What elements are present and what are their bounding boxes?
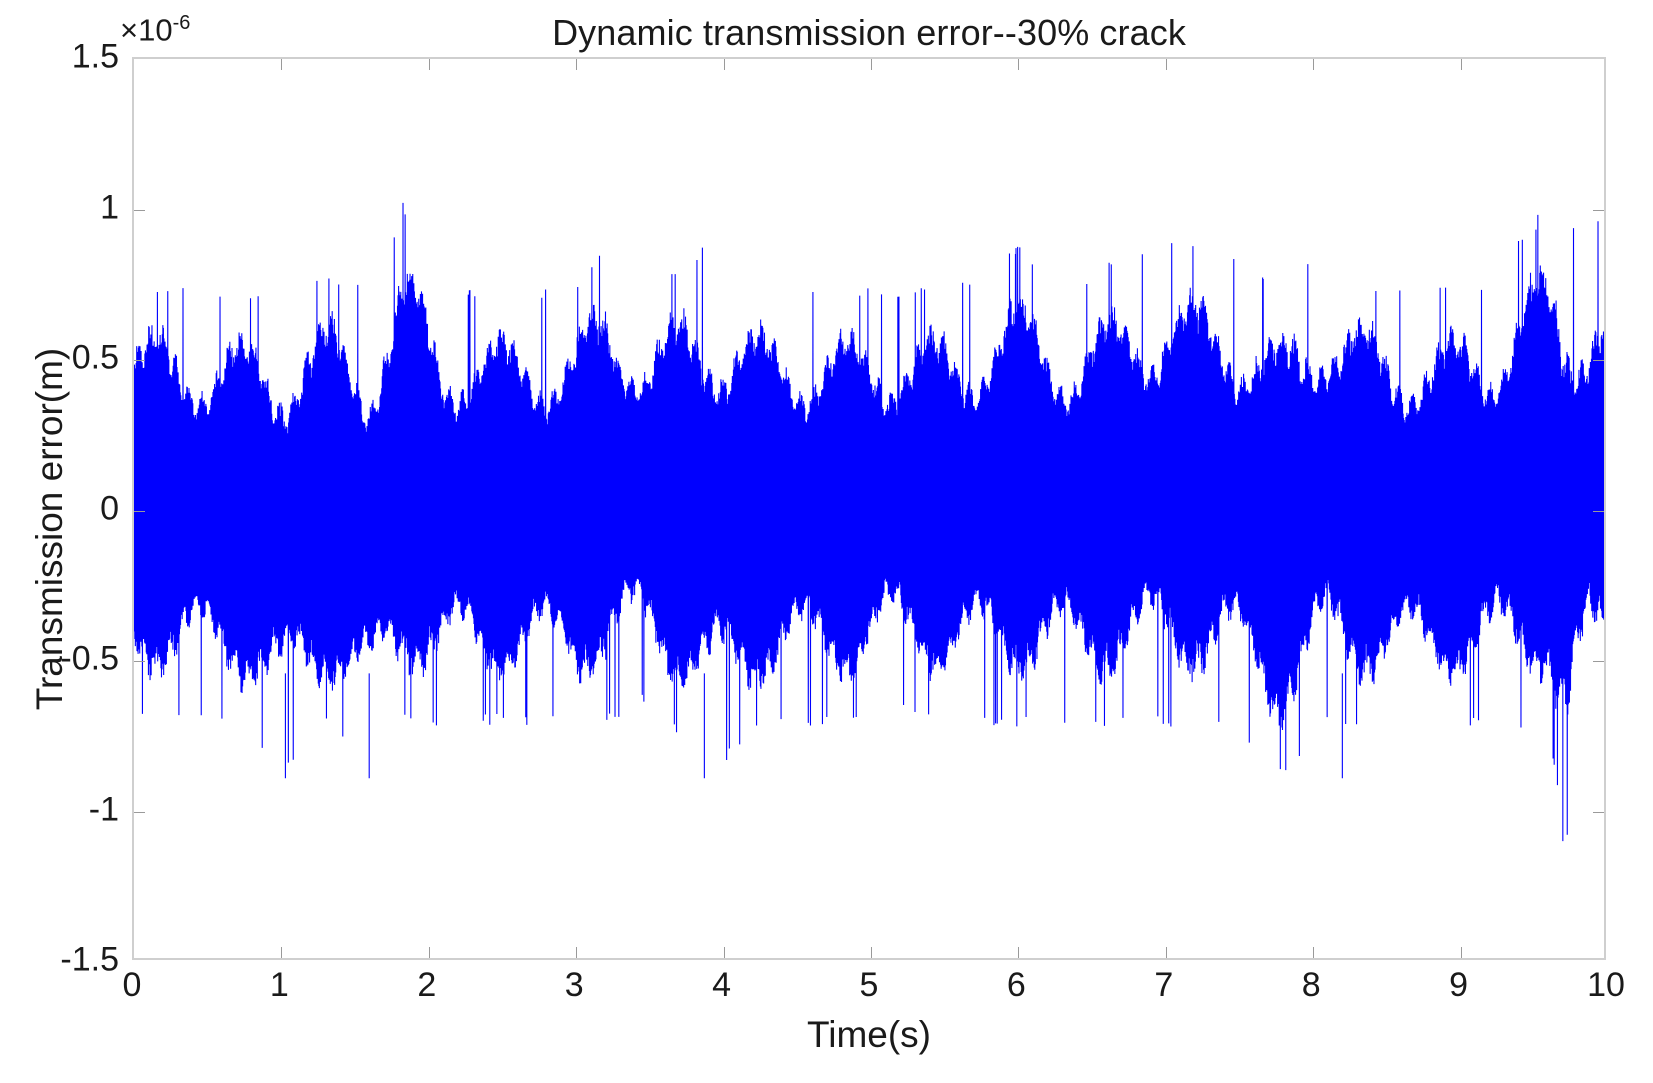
y-tick-mark (134, 360, 145, 361)
y-tick-mark (134, 210, 145, 211)
x-tick-label: 10 (1587, 966, 1625, 1005)
x-tick-mark (1313, 947, 1314, 958)
x-tick-label: 3 (565, 966, 584, 1005)
y-tick-label: 1.5 (72, 38, 119, 77)
x-tick-mark (871, 947, 872, 958)
x-tick-mark (429, 947, 430, 958)
x-tick-mark (576, 947, 577, 958)
y-axis-label: Transmission error(m) (29, 149, 71, 909)
y-tick-mark-right (1593, 661, 1604, 662)
y-tick-mark (134, 511, 145, 512)
y-tick-label: -1 (89, 790, 119, 829)
x-tick-mark-top (281, 59, 282, 70)
y-tick-mark-right (1593, 511, 1604, 512)
x-tick-mark-top (1461, 59, 1462, 70)
x-tick-mark-top (429, 59, 430, 70)
plot-area (132, 57, 1606, 960)
chart-title: Dynamic transmission error--30% crack (132, 12, 1606, 54)
y-tick-mark-right (1593, 210, 1604, 211)
x-tick-label: 1 (270, 966, 289, 1005)
x-tick-label: 4 (712, 966, 731, 1005)
y-tick-mark (134, 661, 145, 662)
y-tick-label: -1.5 (60, 941, 119, 980)
y-tick-mark-right (1593, 360, 1604, 361)
x-tick-label: 7 (1154, 966, 1173, 1005)
transmission-error-trace (134, 203, 1604, 841)
x-tick-label: 5 (860, 966, 879, 1005)
x-tick-mark (724, 947, 725, 958)
y-tick-label: 0 (100, 489, 119, 528)
x-tick-mark (1018, 947, 1019, 958)
x-tick-mark (281, 947, 282, 958)
x-axis-label: Time(s) (132, 1014, 1606, 1056)
x-tick-mark-top (1018, 59, 1019, 70)
x-tick-mark-top (1166, 59, 1167, 70)
x-tick-mark-top (871, 59, 872, 70)
x-tick-label: 9 (1449, 966, 1468, 1005)
y-tick-label: 0.5 (72, 339, 119, 378)
x-tick-mark-top (1313, 59, 1314, 70)
x-tick-label: 6 (1007, 966, 1026, 1005)
figure-canvas: ×10-6 Dynamic transmission error--30% cr… (0, 0, 1653, 1083)
x-tick-label: 2 (417, 966, 436, 1005)
x-tick-label: 0 (123, 966, 142, 1005)
y-tick-label: 1 (100, 188, 119, 227)
y-tick-mark-right (1593, 812, 1604, 813)
x-tick-mark-top (576, 59, 577, 70)
data-series-plot (134, 59, 1604, 958)
x-tick-mark (1461, 947, 1462, 958)
x-tick-mark-top (724, 59, 725, 70)
y-tick-mark (134, 812, 145, 813)
x-tick-mark (1166, 947, 1167, 958)
x-tick-label: 8 (1302, 966, 1321, 1005)
